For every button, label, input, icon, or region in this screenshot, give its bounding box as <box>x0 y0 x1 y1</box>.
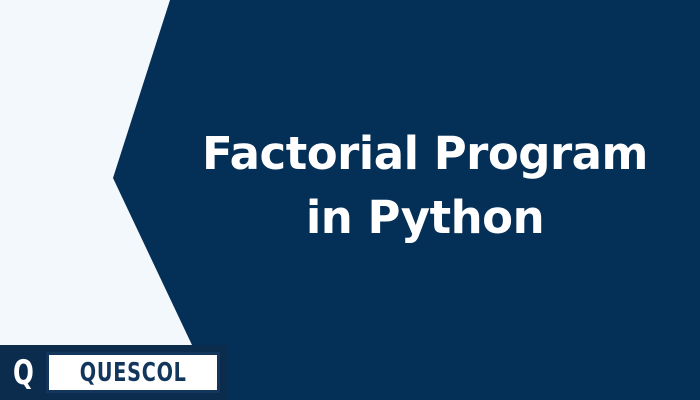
logo-mark-letter: Q <box>13 356 34 390</box>
logo-wordmark-box: QUESCOL <box>46 352 220 393</box>
title-line-2: in Python <box>170 186 680 250</box>
quescol-logo[interactable]: Q QUESCOL <box>0 345 227 400</box>
logo-wordmark: QUESCOL <box>80 360 187 386</box>
banner-card: Factorial Program in Python Q QUESCOL <box>0 0 700 400</box>
page-title: Factorial Program in Python <box>170 122 680 250</box>
logo-mark: Q <box>0 345 46 400</box>
title-line-1: Factorial Program <box>170 122 680 186</box>
